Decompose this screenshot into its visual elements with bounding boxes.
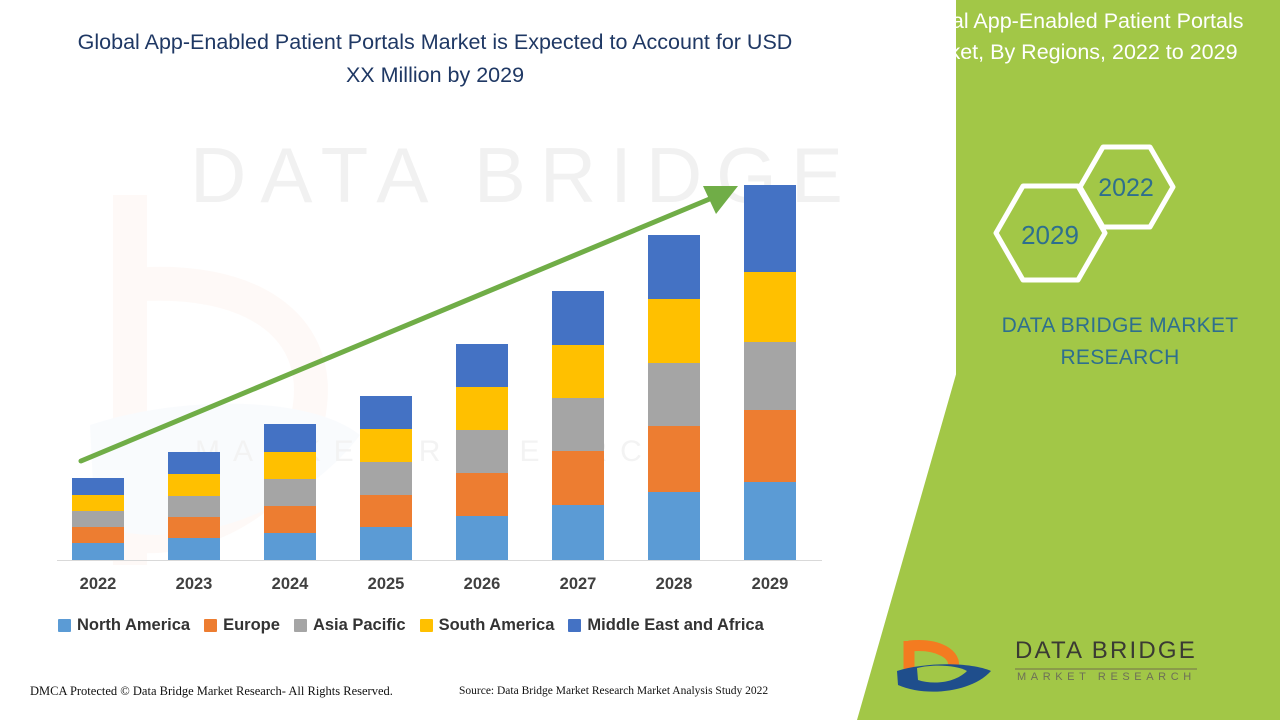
bar-segment bbox=[552, 505, 604, 560]
legend-swatch-icon bbox=[294, 619, 307, 632]
bar-segment bbox=[72, 495, 124, 511]
bar-segment bbox=[168, 496, 220, 517]
bar-segment bbox=[456, 473, 508, 516]
bar-segment bbox=[264, 452, 316, 479]
logo-title: DATA BRIDGE bbox=[1015, 637, 1197, 665]
bar-segment bbox=[168, 538, 220, 560]
bar-segment bbox=[552, 451, 604, 505]
legend-item[interactable]: South America bbox=[420, 616, 555, 635]
x-axis-label-2026: 2026 bbox=[442, 575, 522, 594]
footer-copyright: DMCA Protected © Data Bridge Market Rese… bbox=[30, 684, 393, 699]
bar-segment bbox=[72, 527, 124, 543]
bar-segment bbox=[264, 533, 316, 560]
bar-segment bbox=[648, 492, 700, 560]
bar-group-2029 bbox=[744, 185, 796, 560]
legend-swatch-icon bbox=[420, 619, 433, 632]
legend-item[interactable]: North America bbox=[58, 616, 190, 635]
bar-segment bbox=[456, 387, 508, 430]
hexagon-year-2022: 2022 bbox=[1098, 174, 1154, 202]
legend-swatch-icon bbox=[568, 619, 581, 632]
bar-segment bbox=[168, 517, 220, 538]
bar-group-2025 bbox=[360, 396, 412, 560]
footer-source: Source: Data Bridge Market Research Mark… bbox=[459, 685, 768, 697]
bar-segment bbox=[744, 272, 796, 342]
legend-label: South America bbox=[439, 616, 555, 635]
bar-segment bbox=[744, 410, 796, 482]
bar-segment bbox=[744, 185, 796, 272]
bar-segment bbox=[72, 478, 124, 495]
legend-item[interactable]: Middle East and Africa bbox=[568, 616, 763, 635]
bar-segment bbox=[744, 482, 796, 560]
bar-segment bbox=[648, 299, 700, 363]
bar-segment bbox=[552, 291, 604, 345]
bar-segment bbox=[552, 398, 604, 451]
legend-label: Middle East and Africa bbox=[587, 616, 763, 635]
hexagon-year-badges: 2022 2029 bbox=[975, 140, 1205, 300]
x-axis-label-2029: 2029 bbox=[730, 575, 810, 594]
bar-segment bbox=[552, 345, 604, 398]
bar-segment bbox=[264, 479, 316, 506]
bar-group-2028 bbox=[648, 235, 700, 560]
chart-legend: North AmericaEuropeAsia PacificSouth Ame… bbox=[58, 616, 848, 635]
bar-plot-area bbox=[0, 0, 860, 575]
hexagon-year-2029: 2029 bbox=[1021, 220, 1079, 250]
bar-group-2026 bbox=[456, 344, 508, 560]
logo-divider bbox=[1015, 668, 1197, 670]
legend-label: Asia Pacific bbox=[313, 616, 406, 635]
bar-segment bbox=[456, 430, 508, 473]
x-axis-label-2023: 2023 bbox=[154, 575, 234, 594]
bar-group-2024 bbox=[264, 424, 316, 560]
bar-segment bbox=[360, 495, 412, 527]
legend-item[interactable]: Asia Pacific bbox=[294, 616, 406, 635]
bar-segment bbox=[264, 424, 316, 452]
x-axis-label-2025: 2025 bbox=[346, 575, 426, 594]
bar-segment bbox=[168, 452, 220, 474]
bar-segment bbox=[744, 342, 796, 410]
bar-segment bbox=[72, 511, 124, 527]
legend-swatch-icon bbox=[204, 619, 217, 632]
data-bridge-logo: DATA BRIDGE MARKET RESEARCH bbox=[895, 635, 1225, 697]
bar-segment bbox=[360, 462, 412, 495]
bar-segment bbox=[648, 363, 700, 426]
bar-segment bbox=[264, 506, 316, 533]
infographic-slide: DATA BRIDGE MARKET RESEARCH Global App-E… bbox=[0, 0, 1280, 720]
x-axis-label-2024: 2024 bbox=[250, 575, 330, 594]
bar-segment bbox=[360, 429, 412, 462]
bar-segment bbox=[456, 516, 508, 560]
x-axis-label-2028: 2028 bbox=[634, 575, 714, 594]
bar-segment bbox=[648, 235, 700, 299]
legend-label: North America bbox=[77, 616, 190, 635]
logo-subtitle: MARKET RESEARCH bbox=[1017, 671, 1196, 683]
x-axis-label-2022: 2022 bbox=[58, 575, 138, 594]
bar-segment bbox=[456, 344, 508, 387]
panel-title: Global App-Enabled Patient Portals Marke… bbox=[880, 6, 1270, 68]
bar-group-2022 bbox=[72, 478, 124, 560]
bar-segment bbox=[72, 543, 124, 560]
bar-group-2023 bbox=[168, 452, 220, 560]
bar-group-2027 bbox=[552, 291, 604, 560]
panel-brand-name: DATA BRIDGE MARKET RESEARCH bbox=[975, 310, 1265, 374]
legend-label: Europe bbox=[223, 616, 280, 635]
data-bridge-mark-icon bbox=[895, 635, 1005, 697]
x-axis-label-2027: 2027 bbox=[538, 575, 618, 594]
legend-item[interactable]: Europe bbox=[204, 616, 280, 635]
bar-segment bbox=[360, 527, 412, 560]
legend-swatch-icon bbox=[58, 619, 71, 632]
bar-segment bbox=[648, 426, 700, 492]
stacked-bar-chart: 20222023202420252026202720282029 bbox=[0, 0, 860, 620]
bar-segment bbox=[168, 474, 220, 496]
bar-segment bbox=[360, 396, 412, 429]
